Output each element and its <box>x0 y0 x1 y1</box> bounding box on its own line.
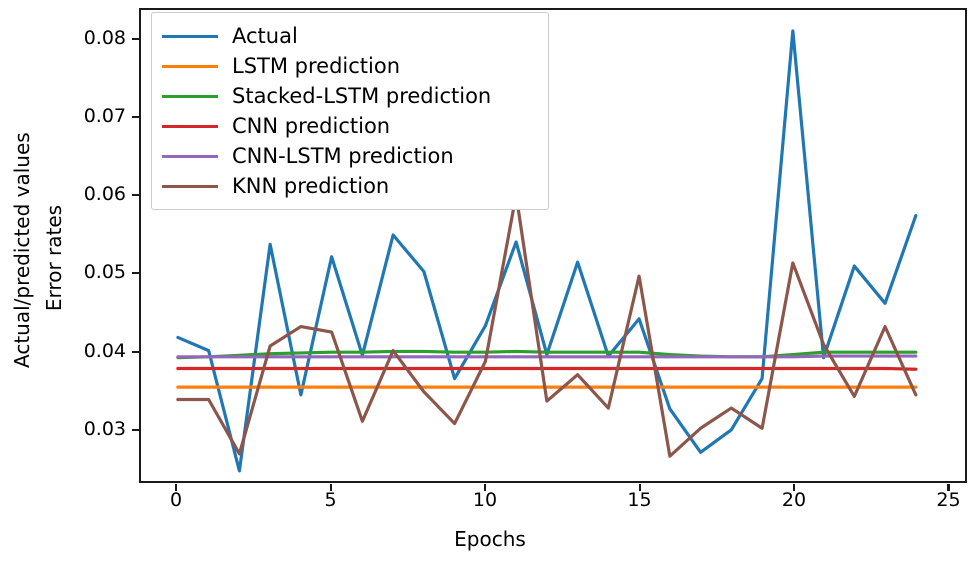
y-tick-label: 0.07 <box>56 107 126 126</box>
x-tick-label: 0 <box>146 491 206 510</box>
x-tick-mark <box>175 484 177 491</box>
y-tick-label: 0.03 <box>56 420 126 439</box>
x-tick-mark <box>947 484 949 491</box>
legend-label: LSTM prediction <box>232 56 400 77</box>
x-tick-label: 15 <box>610 491 670 510</box>
legend-item: Stacked-LSTM prediction <box>162 81 536 111</box>
legend-item: CNN-LSTM prediction <box>162 141 536 171</box>
legend-label: Stacked-LSTM prediction <box>232 86 491 107</box>
y-axis-label-primary: Actual/predicted values <box>10 148 34 368</box>
legend-label: Actual <box>232 26 298 47</box>
x-tick-mark <box>330 484 332 491</box>
legend-color-swatch <box>162 95 218 98</box>
legend-color-swatch <box>162 125 218 128</box>
y-tick-label: 0.08 <box>56 29 126 48</box>
series-line <box>178 356 916 357</box>
y-tick-mark <box>132 272 139 274</box>
legend-label: KNN prediction <box>232 176 389 197</box>
legend-item: LSTM prediction <box>162 51 536 81</box>
x-tick-label: 10 <box>455 491 515 510</box>
y-tick-label: 0.04 <box>56 342 126 361</box>
y-tick-label: 0.06 <box>56 185 126 204</box>
x-tick-mark <box>639 484 641 491</box>
legend-color-swatch <box>162 155 218 158</box>
legend-color-swatch <box>162 35 218 38</box>
x-tick-label: 5 <box>301 491 361 510</box>
y-tick-mark <box>132 38 139 40</box>
legend-label: CNN prediction <box>232 116 390 137</box>
x-axis-tick-labels: 0510152025 <box>0 483 980 523</box>
legend-color-swatch <box>162 65 218 68</box>
y-axis-tick-labels: 0.030.040.050.060.070.08 <box>56 0 126 564</box>
series-line <box>178 368 916 369</box>
y-tick-mark <box>132 351 139 353</box>
y-tick-mark <box>132 429 139 431</box>
x-axis-label: Epochs <box>0 527 980 551</box>
x-tick-mark <box>793 484 795 491</box>
x-tick-mark <box>484 484 486 491</box>
y-tick-mark <box>132 194 139 196</box>
legend-label: CNN-LSTM prediction <box>232 146 454 167</box>
x-tick-label: 25 <box>918 491 978 510</box>
legend-item: Actual <box>162 21 536 51</box>
y-tick-label: 0.05 <box>56 263 126 282</box>
legend: ActualLSTM predictionStacked-LSTM predic… <box>151 12 549 210</box>
series-line <box>178 195 916 456</box>
x-tick-label: 20 <box>764 491 824 510</box>
legend-item: CNN prediction <box>162 111 536 141</box>
legend-color-swatch <box>162 185 218 188</box>
legend-item: KNN prediction <box>162 171 536 201</box>
y-tick-mark <box>132 116 139 118</box>
chart-figure: Actual/predicted values Error rates 0.03… <box>0 0 980 564</box>
